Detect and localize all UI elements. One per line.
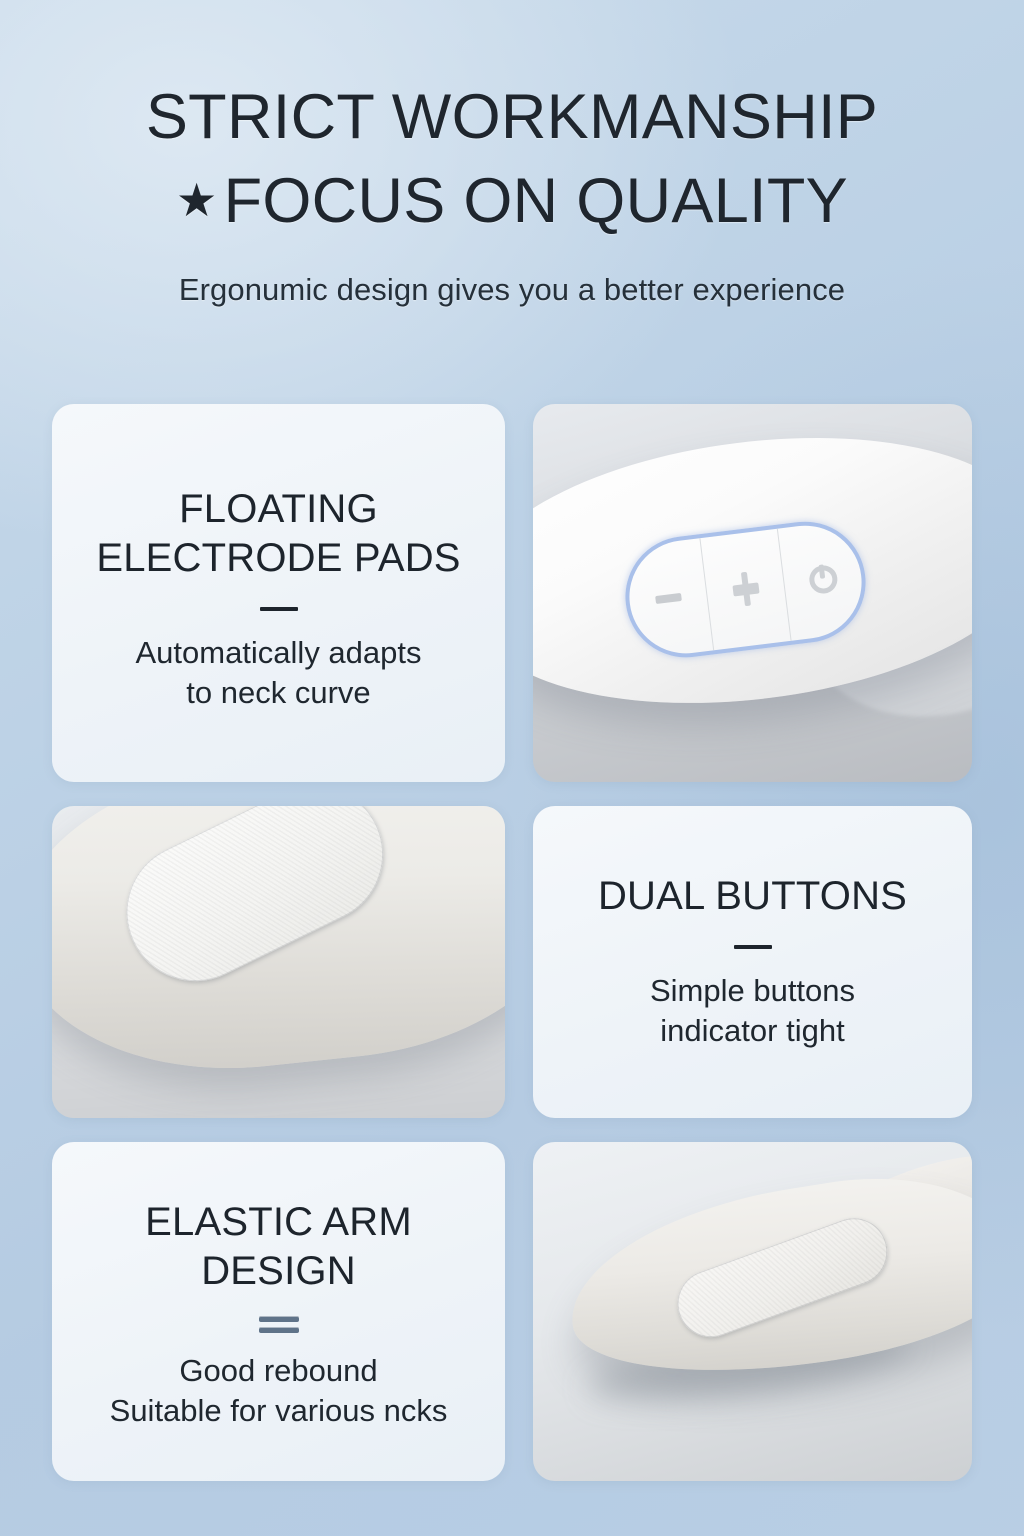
feature-title-line-1: DUAL BUTTONS <box>598 874 907 918</box>
grid-cell-1: FLOATING ELECTRODE PADS Automatically ad… <box>52 404 505 782</box>
grid-cell-6 <box>533 1142 972 1481</box>
feature-card-description: Good rebound Suitable for various ncks <box>110 1351 448 1432</box>
grid-cell-5: ELASTIC ARM DESIGN Good rebound Suitable… <box>52 1142 505 1481</box>
star-icon: ★ <box>176 174 218 226</box>
feature-card-title: FLOATING ELECTRODE PADS <box>96 485 460 583</box>
divider-line-bottom <box>259 1327 299 1333</box>
feature-title-line-1: ELASTIC ARM <box>145 1200 412 1244</box>
electrode-pad <box>668 1209 897 1347</box>
card-divider <box>259 1316 299 1333</box>
power-button[interactable] <box>778 519 868 641</box>
minus-icon <box>655 593 682 604</box>
feature-card-floating-electrode-pads: FLOATING ELECTRODE PADS Automatically ad… <box>52 404 505 782</box>
feature-card-title: DUAL BUTTONS <box>598 872 907 921</box>
grid-cell-2 <box>533 404 972 782</box>
feature-card-title: ELASTIC ARM DESIGN <box>145 1198 412 1296</box>
feature-grid: FLOATING ELECTRODE PADS Automatically ad… <box>52 404 972 1481</box>
page-title: STRICT WORKMANSHIP ★FOCUS ON QUALITY <box>0 76 1024 244</box>
feature-card-elastic-arm-design: ELASTIC ARM DESIGN Good rebound Suitable… <box>52 1142 505 1481</box>
title-line-2-text: FOCUS ON QUALITY <box>224 166 848 236</box>
product-photo-neck-band-pad <box>52 806 505 1118</box>
feature-desc-line-1: Automatically adapts <box>135 633 421 673</box>
product-photo-elastic-arm <box>533 1142 972 1481</box>
mode-button[interactable] <box>701 528 792 650</box>
card-divider <box>734 945 772 949</box>
feature-page: STRICT WORKMANSHIP ★FOCUS ON QUALITY Erg… <box>0 0 1024 1536</box>
feature-desc-line-2: Suitable for various ncks <box>110 1391 448 1431</box>
mode-icon <box>729 571 763 608</box>
grid-cell-4: DUAL BUTTONS Simple buttons indicator ti… <box>533 806 972 1118</box>
minus-button[interactable] <box>623 538 714 660</box>
feature-card-description: Automatically adapts to neck curve <box>135 633 421 714</box>
feature-desc-line-2: to neck curve <box>135 673 421 713</box>
title-line-1: STRICT WORKMANSHIP <box>0 76 1024 160</box>
arm-body <box>557 1155 972 1401</box>
feature-card-description: Simple buttons indicator tight <box>650 971 855 1052</box>
feature-title-line-2: ELECTRODE PADS <box>96 536 460 580</box>
divider-line-top <box>259 1316 299 1322</box>
feature-card-dual-buttons: DUAL BUTTONS Simple buttons indicator ti… <box>533 806 972 1118</box>
page-header: STRICT WORKMANSHIP ★FOCUS ON QUALITY Erg… <box>0 0 1024 308</box>
feature-title-line-1: FLOATING <box>179 487 378 531</box>
feature-desc-line-1: Simple buttons <box>650 971 855 1011</box>
feature-desc-line-1: Good rebound <box>110 1351 448 1391</box>
electrode-pad <box>103 806 406 1004</box>
power-icon <box>808 564 839 595</box>
card-divider <box>260 607 298 611</box>
page-subtitle: Ergonumic design gives you a better expe… <box>0 272 1024 308</box>
grid-cell-3 <box>52 806 505 1118</box>
feature-title-line-2: DESIGN <box>201 1249 356 1293</box>
product-photo-control-panel <box>533 404 972 782</box>
feature-desc-line-2: indicator tight <box>650 1011 855 1051</box>
title-line-2: ★FOCUS ON QUALITY <box>0 160 1024 244</box>
